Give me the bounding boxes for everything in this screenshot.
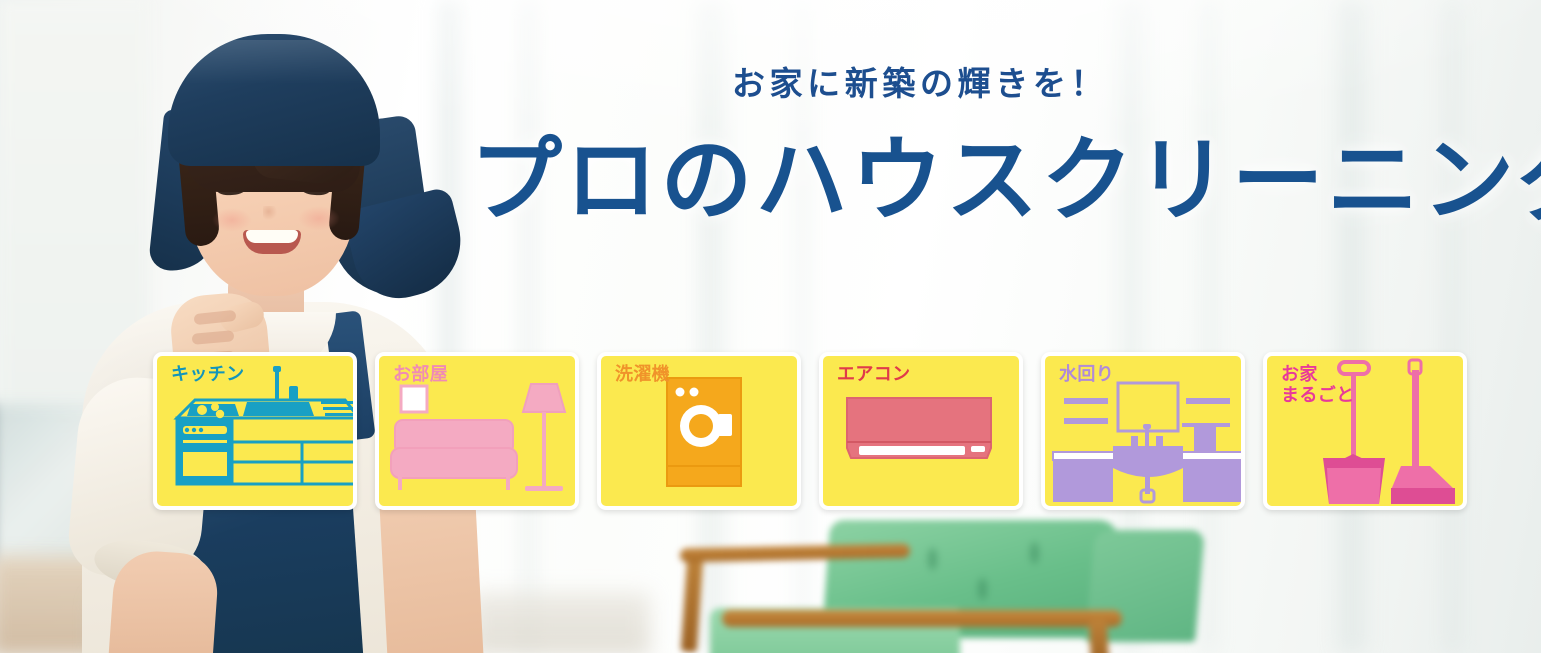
cleaning-staff-photo: [60, 12, 480, 653]
service-card-aircon[interactable]: エアコン: [819, 352, 1023, 510]
card-label-kitchen: キッチン: [171, 364, 244, 385]
card-label-aircon: エアコン: [837, 364, 910, 385]
card-label-water: 水回り: [1059, 364, 1114, 385]
service-card-strip: キッチン: [153, 352, 1459, 510]
service-card-whole-house[interactable]: お家 まるごと: [1263, 352, 1467, 510]
service-card-water[interactable]: 水回り: [1041, 352, 1245, 510]
card-label-room: お部屋: [393, 364, 448, 385]
service-card-kitchen[interactable]: キッチン: [153, 352, 357, 510]
card-label-washer: 洗濯機: [615, 364, 670, 385]
service-card-washer[interactable]: 洗濯機: [597, 352, 801, 510]
card-label-whole-house: お家 まるごと: [1281, 364, 1354, 406]
background-side-table: [470, 592, 650, 653]
hero-banner: お家に新築の輝きを！ プロのハウスクリーニング キッチン: [0, 0, 1541, 653]
service-card-room[interactable]: お部屋: [375, 352, 579, 510]
background-green-armchair: [790, 512, 1230, 653]
